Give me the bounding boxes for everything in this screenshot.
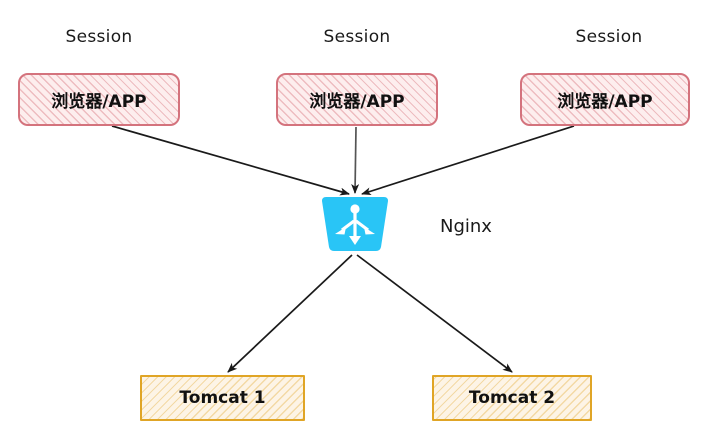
edge-browser2-to-nginx [355, 127, 356, 193]
browser-node-3-label: 浏览器/APP [557, 87, 652, 112]
tomcat-node-2-label: Tomcat 2 [469, 388, 555, 408]
tomcat-node-1-label: Tomcat 1 [179, 388, 265, 408]
session-caption-1: Session [18, 27, 180, 47]
edge-browser3-to-nginx [362, 126, 574, 194]
diagram-canvas: Session Session Session 浏览器/APP 浏览器/APP … [0, 0, 707, 448]
browser-node-3[interactable]: 浏览器/APP [520, 73, 690, 126]
browser-node-1-label: 浏览器/APP [51, 87, 146, 112]
browser-node-1[interactable]: 浏览器/APP [18, 73, 180, 126]
edge-browser1-to-nginx [112, 126, 349, 194]
edge-nginx-to-tomcat2 [357, 255, 512, 372]
browser-node-2[interactable]: 浏览器/APP [276, 73, 438, 126]
load-balancer-icon [319, 196, 391, 253]
browser-node-2-label: 浏览器/APP [309, 87, 404, 112]
nginx-node[interactable] [319, 196, 391, 253]
tomcat-node-2[interactable]: Tomcat 2 [432, 375, 592, 421]
session-caption-2: Session [276, 27, 438, 47]
edge-nginx-to-tomcat1 [228, 255, 352, 372]
nginx-label: Nginx [440, 216, 492, 237]
tomcat-node-1[interactable]: Tomcat 1 [140, 375, 305, 421]
session-caption-3: Session [528, 27, 690, 47]
